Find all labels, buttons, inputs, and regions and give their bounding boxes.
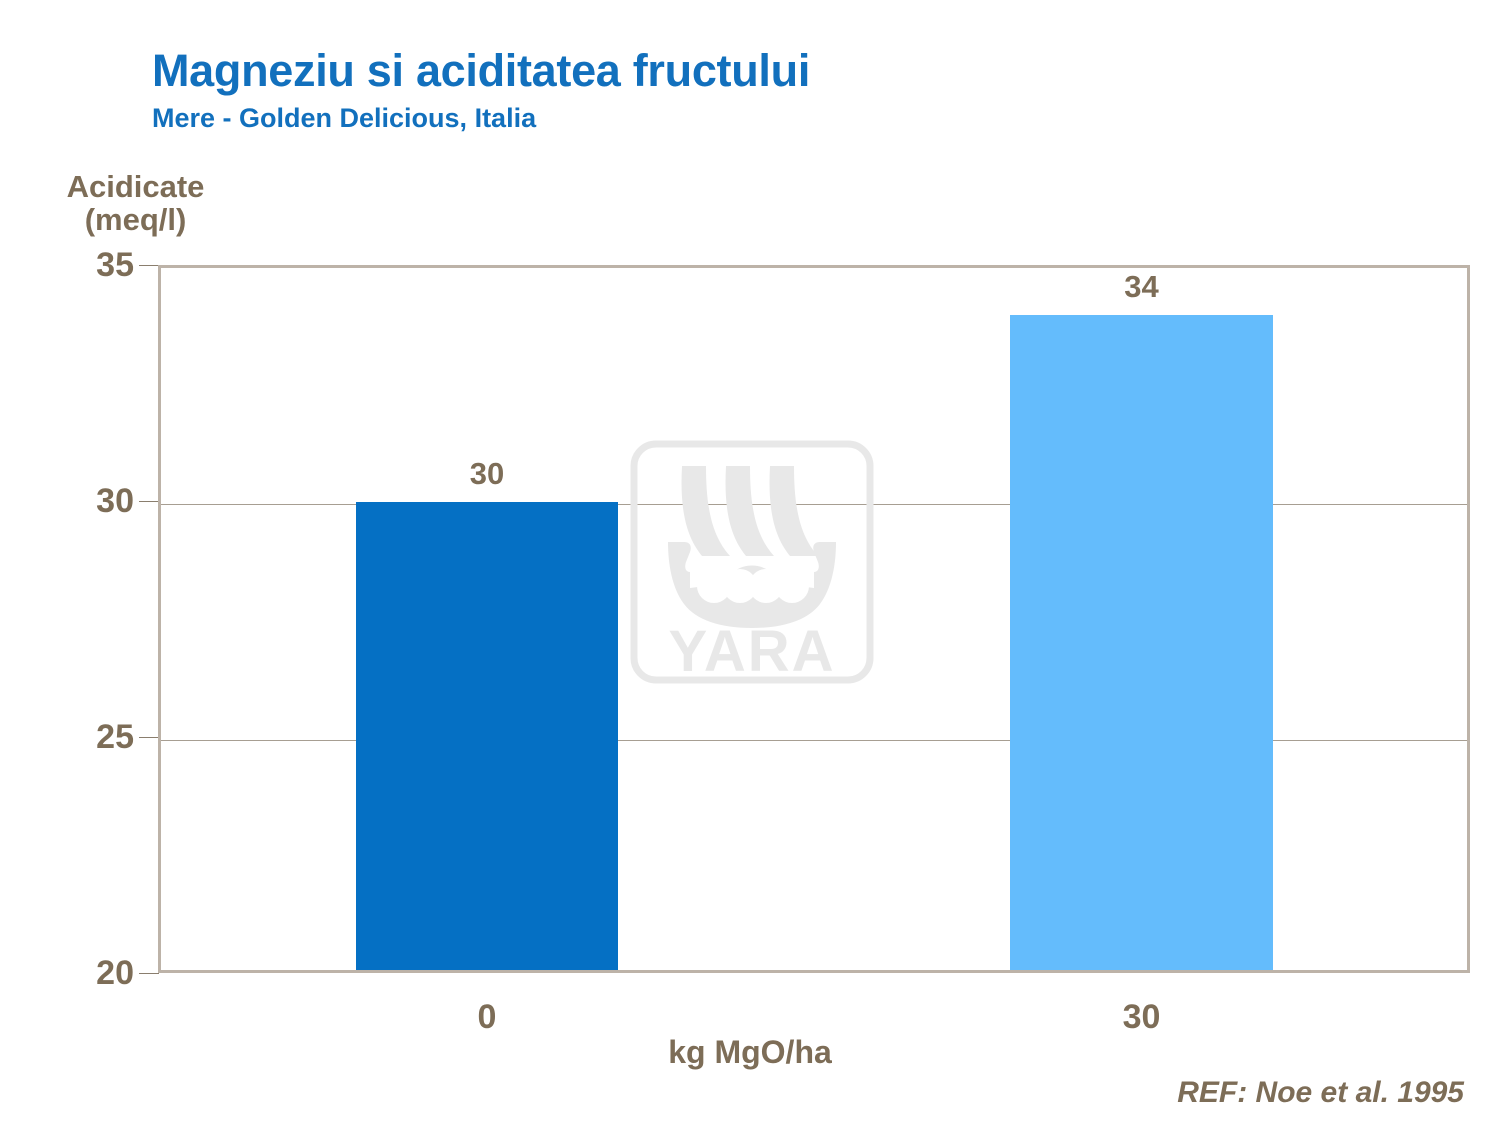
y-tick-label-30: 30 — [58, 484, 134, 518]
x-axis-title: kg MgO/ha — [0, 1036, 1500, 1068]
plot-area — [158, 265, 1470, 973]
page-subtitle: Mere - Golden Delicious, Italia — [152, 105, 1252, 132]
reference-note: REF: Noe et al. 1995 — [1177, 1078, 1464, 1108]
y-tick-label-35: 35 — [58, 248, 134, 282]
page-title: Magneziu si aciditatea fructului — [152, 48, 1252, 93]
bar-category-30[interactable] — [1010, 315, 1273, 970]
y-tick-mark-30 — [139, 501, 159, 502]
slide-canvas: Magneziu si aciditatea fructului Mere - … — [0, 0, 1500, 1125]
bar-category-0[interactable] — [356, 502, 618, 970]
y-axis-title: Acidicate (meq/l) — [38, 170, 233, 237]
y-tick-label-20: 20 — [58, 956, 134, 990]
x-tick-label-30: 30 — [1010, 1000, 1273, 1034]
x-tick-label-0: 0 — [356, 1000, 618, 1034]
y-tick-mark-20 — [139, 973, 159, 974]
y-tick-label-25: 25 — [58, 720, 134, 754]
bar-value-label-0: 30 — [356, 458, 618, 489]
y-axis-title-line1: Acidicate — [38, 170, 233, 203]
y-tick-mark-25 — [139, 737, 159, 738]
y-tick-mark-35 — [139, 265, 159, 266]
bar-value-label-30: 34 — [1010, 271, 1273, 302]
title-block: Magneziu si aciditatea fructului Mere - … — [152, 48, 1252, 132]
y-axis-title-line2: (meq/l) — [38, 203, 233, 236]
